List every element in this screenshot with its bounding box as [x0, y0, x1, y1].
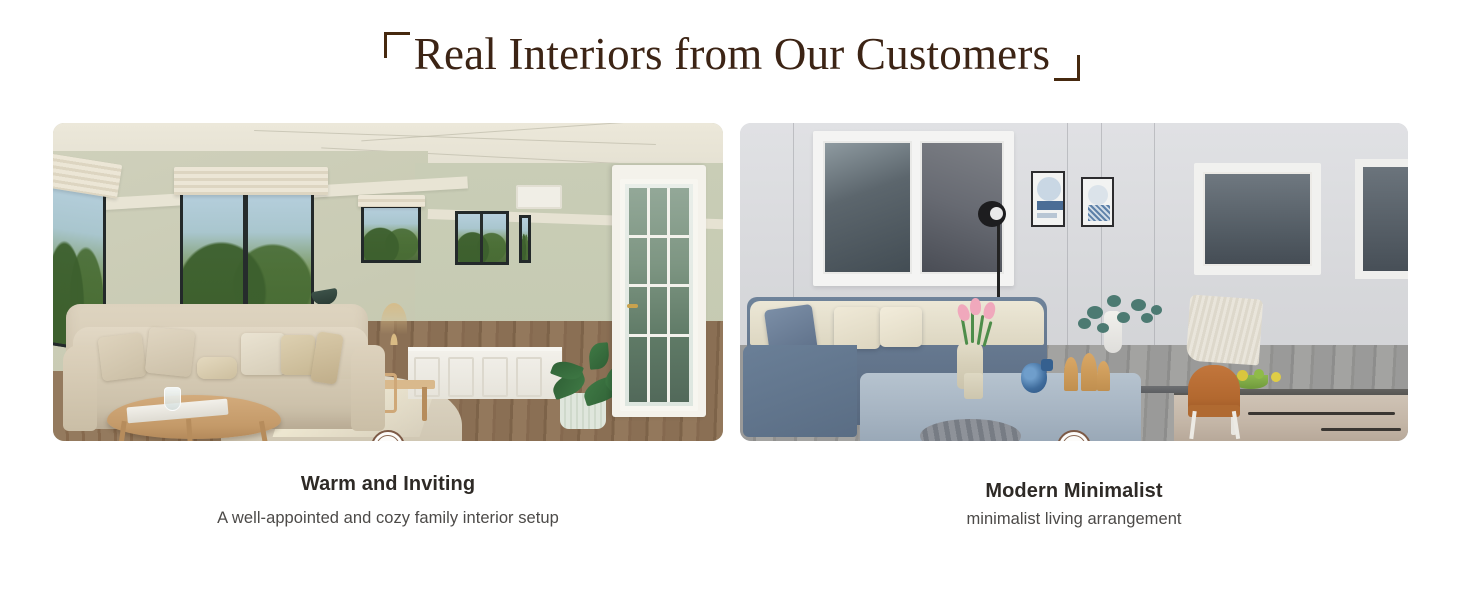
check-icon [380, 439, 397, 442]
wall-art-left [1031, 171, 1065, 227]
section-header: Real Interiors from Our Customers [0, 32, 1464, 77]
testimonial-gallery-section: Real Interiors from Our Customers [0, 0, 1464, 600]
scene-warm-interior [53, 123, 723, 441]
card-title: Warm and Inviting [53, 473, 723, 496]
gallery-card-warm-and-inviting[interactable]: Warm and Inviting A well-appointed and c… [53, 123, 723, 553]
interior-photo-modern-minimalist[interactable] [740, 123, 1408, 441]
page-title: Real Interiors from Our Customers [388, 32, 1076, 77]
gallery-grid: Warm and Inviting A well-appointed and c… [53, 123, 1408, 553]
card-subtitle: minimalist living arrangement [740, 510, 1408, 529]
card-title: Modern Minimalist [740, 480, 1408, 503]
interior-photo-warm-and-inviting[interactable] [53, 123, 723, 441]
corner-bracket-right-icon [1054, 55, 1080, 81]
scene-minimalist-interior [740, 123, 1408, 441]
corner-bracket-left-icon [384, 32, 410, 58]
gallery-card-modern-minimalist[interactable]: Modern Minimalist minimalist living arra… [740, 123, 1408, 553]
wall-art-right [1081, 177, 1114, 227]
check-icon [1066, 439, 1083, 442]
page-title-text: Real Interiors from Our Customers [414, 29, 1050, 79]
card-subtitle: A well-appointed and cozy family interio… [53, 509, 723, 528]
